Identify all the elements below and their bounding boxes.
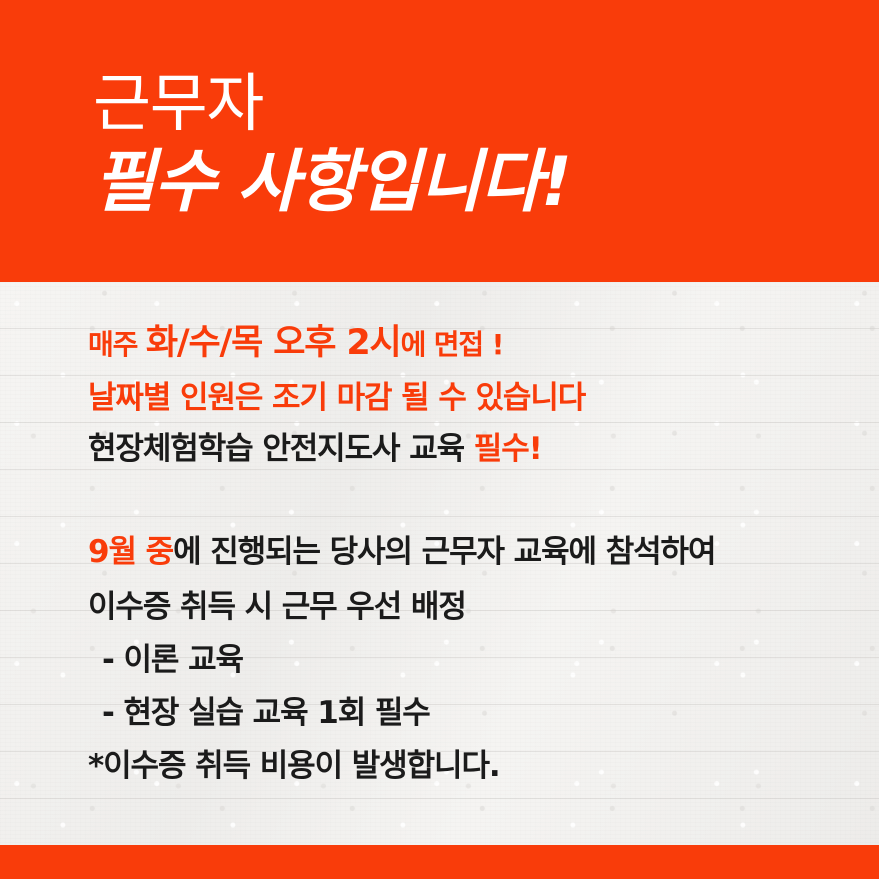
list-item: - 현장 실습 교육 1회 필수 <box>88 698 859 729</box>
safety-training-required: 필수! <box>474 431 542 467</box>
poster-canvas: 근무자 필수 사항입니다! 매주 화/수/목 오후 2시에 면접 ! 날짜별 인… <box>0 0 879 879</box>
paper-body: 매주 화/수/목 오후 2시에 면접 ! 날짜별 인원은 조기 마감 될 수 있… <box>0 282 879 845</box>
interview-days-time: 화/수/목 오후 2시 <box>146 323 401 363</box>
cost-note-line: *이수증 취득 비용이 발생합니다. <box>88 751 859 782</box>
footer-band <box>0 845 879 879</box>
body-content: 매주 화/수/목 오후 2시에 면접 ! 날짜별 인원은 조기 마감 될 수 있… <box>0 282 879 845</box>
header-title-line-2: 필수 사항입니다! <box>93 149 879 217</box>
training-month: 9월 중 <box>88 534 173 570</box>
interview-prefix: 매주 <box>88 328 146 361</box>
interview-suffix: 에 면접 ! <box>401 328 504 361</box>
interview-schedule-line: 매주 화/수/목 오후 2시에 면접 ! <box>88 326 859 361</box>
capacity-warning-line: 날짜별 인원은 조기 마감 될 수 있습니다 <box>88 383 859 414</box>
safety-training-line: 현장체험학습 안전지도사 교육 필수! <box>88 434 859 465</box>
attend-training-text: 에 진행되는 당사의 근무자 교육에 참석하여 <box>173 534 715 570</box>
schedule-block: 매주 화/수/목 오후 2시에 면접 ! 날짜별 인원은 조기 마감 될 수 있… <box>88 326 859 465</box>
header-band: 근무자 필수 사항입니다! <box>0 0 879 282</box>
safety-training-text: 현장체험학습 안전지도사 교육 <box>88 431 474 467</box>
training-block: 9월 중에 진행되는 당사의 근무자 교육에 참석하여 이수증 취득 시 근무 … <box>88 537 859 782</box>
header-title-line-1: 근무자 <box>93 72 879 135</box>
attend-training-line: 9월 중에 진행되는 당사의 근무자 교육에 참석하여 <box>88 537 859 568</box>
list-item: - 이론 교육 <box>88 645 859 676</box>
priority-assignment-line: 이수증 취득 시 근무 우선 배정 <box>88 592 859 623</box>
